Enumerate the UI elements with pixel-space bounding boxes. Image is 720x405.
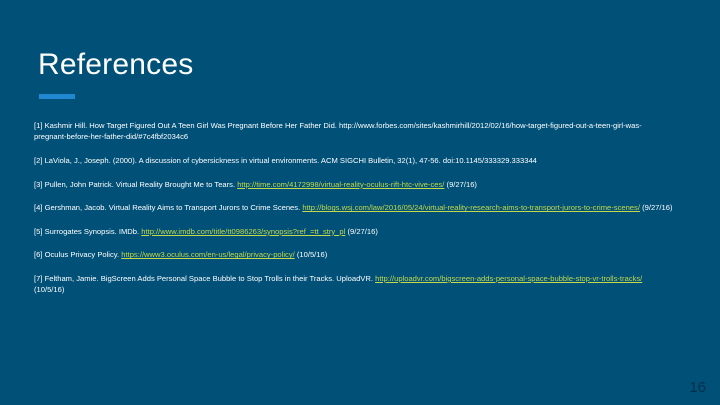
reference-text: Surrogates Synopsis. IMDb. (45, 227, 140, 236)
reference-marker: [6] (34, 250, 42, 259)
reference-entry: [3] Pullen, John Patrick. Virtual Realit… (34, 179, 674, 190)
reference-access-date: (9/27/16) (642, 203, 672, 212)
reference-access-date: (9/27/16) (347, 227, 377, 236)
page-number: 16 (689, 379, 706, 397)
page-title: References (38, 46, 193, 84)
reference-url-link[interactable]: https://www3.oculus.com/en-us/legal/priv… (121, 250, 294, 259)
reference-entry: [7] Feltham, Jamie. BigScreen Adds Perso… (34, 273, 674, 296)
reference-text: Pullen, John Patrick. Virtual Reality Br… (45, 180, 236, 189)
reference-text: Feltham, Jamie. BigScreen Adds Personal … (45, 274, 373, 283)
reference-url-link[interactable]: http://uploadvr.com/bigscreen-adds-perso… (375, 274, 642, 283)
reference-text: Kashmir Hill. How Target Figured Out A T… (45, 121, 337, 130)
reference-text: LaViola, J., Joseph. (2000). A discussio… (45, 156, 537, 165)
references-list: [1] Kashmir Hill. How Target Figured Out… (34, 120, 674, 296)
reference-access-date: (10/5/16) (297, 250, 327, 259)
reference-marker: [7] (34, 274, 42, 283)
reference-entry: [5] Surrogates Synopsis. IMDb. http://ww… (34, 226, 674, 237)
reference-text: Gershman, Jacob. Virtual Reality Aims to… (45, 203, 301, 212)
reference-url-link[interactable]: http://www.imdb.com/title/tt0986263/syno… (141, 227, 345, 236)
reference-url-link[interactable]: http://time.com/4172998/virtual-reality-… (237, 180, 444, 189)
reference-marker: [5] (34, 227, 42, 236)
reference-marker: [1] (34, 121, 42, 130)
reference-marker: [4] (34, 203, 42, 212)
reference-url-link[interactable]: http://blogs.wsj.com/law/2016/05/24/virt… (302, 203, 640, 212)
references-slide: References [1] Kashmir Hill. How Target … (0, 0, 720, 405)
reference-marker: [2] (34, 156, 42, 165)
title-accent-rule (39, 94, 75, 99)
reference-text: Oculus Privacy Policy. (45, 250, 120, 259)
reference-access-date: (10/5/16) (34, 285, 64, 294)
reference-entry: [1] Kashmir Hill. How Target Figured Out… (34, 120, 674, 143)
reference-entry: [4] Gershman, Jacob. Virtual Reality Aim… (34, 202, 674, 213)
reference-entry: [2] LaViola, J., Joseph. (2000). A discu… (34, 155, 674, 166)
reference-entry: [6] Oculus Privacy Policy. https://www3.… (34, 249, 674, 260)
reference-access-date: (9/27/16) (447, 180, 477, 189)
reference-marker: [3] (34, 180, 42, 189)
